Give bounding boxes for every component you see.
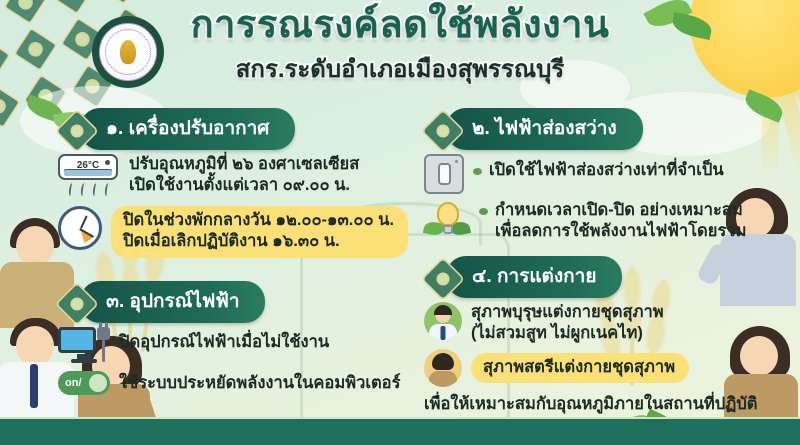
text-line: (ไม่สวมสูท ไม่ผูกเนคไท) (471, 323, 664, 344)
section-electrical-equipment: ๓. อุปกรณ์ไฟฟ้า ปิดอุปกรณ์ไฟฟ้าเมื่อไม่ใ… (58, 285, 410, 399)
air-conditioner-icon: 26°C (58, 154, 120, 200)
section-title: ๓. อุปกรณ์ไฟฟ้า (80, 281, 265, 323)
list-item: เปิดใช้ไฟฟ้าส่องสว่างเท่าที่จำเป็น (424, 154, 776, 194)
text-line: กำหนดเวลาเปิด-ปิด อย่างเหมาะสม (495, 200, 746, 221)
toggle-label: on/ (65, 377, 82, 389)
list-item: กำหนดเวลาเปิด-ปิด อย่างเหมาะสม เพื่อลดกา… (424, 200, 776, 244)
section-air-conditioner: ๑. เครื่องปรับอากาศ 26°C ปรับอุณหภูมิที่… (58, 112, 410, 262)
text-line: ปิดเมื่อเลิกปฏิบัติงาน ๑๖.๓๐ น. (123, 231, 394, 252)
list-item: 26°C ปรับอุณหภูมิที่ ๒๖ องศาเซลเซียส เปิ… (58, 154, 410, 200)
list-item-text-highlighted: สุภาพสตรีแต่งกายชุดสุภาพ (471, 353, 689, 383)
light-bulb-icon (424, 200, 470, 244)
light-switch-icon (424, 154, 464, 194)
section-dress-code: ๔. การแต่งกาย สุภาพบุรุษแต่งกายชุดสุภาพ … (424, 260, 776, 443)
list-item-text: เปิดใช้ไฟฟ้าส่องสว่างเท่าที่จำเป็น (489, 160, 724, 181)
text-line: สุภาพสตรีแต่งกายชุดสุภาพ (483, 357, 675, 378)
text-line: ปิดอุปกรณ์ไฟฟ้าเมื่อไม่ใช้งาน (119, 332, 329, 353)
list-item: ปิดในช่วงพักกลางวัน ๑๒.๐๐-๑๓.๐๐ น. ปิดเม… (58, 206, 410, 258)
list-item-text: ปรับอุณหภูมิที่ ๒๖ องศาเซลเซียส เปิดใช้ง… (129, 154, 359, 197)
text-line: ปรับอุณหภูมิที่ ๒๖ องศาเซลเซียส (129, 154, 359, 175)
monitor-plug-icon (58, 327, 110, 367)
government-emblem-icon (92, 16, 164, 88)
list-item-text-highlighted: ปิดในช่วงพักกลางวัน ๑๒.๐๐-๑๓.๐๐ น. ปิดเม… (111, 206, 408, 258)
text-line: เพื่อลดการใช้พลังงานไฟฟ้าโดยรวม (495, 221, 746, 242)
section-header: ๔. การแต่งกาย (424, 260, 776, 294)
list-item: สุภาพสตรีแต่งกายชุดสุภาพ (424, 349, 776, 387)
text-line: ปิดในช่วงพักกลางวัน ๑๒.๐๐-๑๓.๐๐ น. (123, 210, 394, 231)
male-avatar-icon (424, 302, 462, 340)
list-item-text: ปิดอุปกรณ์ไฟฟ้าเมื่อไม่ใช้งาน (119, 332, 329, 353)
list-item-text: ใช้ระบบประหยัดพลังงานในคอมพิวเตอร์ (119, 373, 400, 394)
bullet-dot (479, 208, 488, 215)
footer-bar (0, 417, 800, 445)
list-item-text: สุภาพบุรุษแต่งกายชุดสุภาพ (ไม่สวมสูท ไม่… (471, 302, 664, 345)
text-line: เปิดใช้งานตั้งแต่เวลา ๐๙.๐๐ น. (129, 175, 359, 196)
section-title: ๑. เครื่องปรับอากาศ (80, 108, 295, 150)
section-header: ๒. ไฟฟ้าส่องสว่าง (424, 112, 776, 146)
female-avatar-icon (424, 349, 462, 387)
list-item: on/ ใช้ระบบประหยัดพลังงานในคอมพิวเตอร์ (58, 371, 410, 395)
text-line: สุภาพบุรุษแต่งกายชุดสุภาพ (471, 302, 664, 323)
bullet-dot (473, 168, 482, 175)
section-title: ๔. การแต่งกาย (446, 256, 622, 298)
section-title: ๒. ไฟฟ้าส่องสว่าง (446, 108, 643, 150)
poster-header: การรณรงค์ลดใช้พลังงาน สกร.ระดับอำเภอเมือ… (0, 6, 800, 88)
section-lighting: ๒. ไฟฟ้าส่องสว่าง เปิดใช้ไฟฟ้าส่องสว่างเ… (424, 112, 776, 248)
text-line: เปิดใช้ไฟฟ้าส่องสว่างเท่าที่จำเป็น (489, 160, 724, 181)
text-line: ใช้ระบบประหยัดพลังงานในคอมพิวเตอร์ (119, 373, 400, 394)
energy-saving-campaign-poster: การรณรงค์ลดใช้พลังงาน สกร.ระดับอำเภอเมือ… (0, 0, 800, 445)
power-toggle-icon[interactable]: on/ (58, 371, 110, 395)
list-item-text: กำหนดเวลาเปิด-ปิด อย่างเหมาะสม เพื่อลดกา… (495, 200, 746, 243)
section-header: ๑. เครื่องปรับอากาศ (58, 112, 410, 146)
section-header: ๓. อุปกรณ์ไฟฟ้า (58, 285, 410, 319)
list-item: ปิดอุปกรณ์ไฟฟ้าเมื่อไม่ใช้งาน (58, 327, 410, 367)
clock-icon (58, 206, 102, 250)
list-item: สุภาพบุรุษแต่งกายชุดสุภาพ (ไม่สวมสูท ไม่… (424, 302, 776, 345)
ac-temperature-value: 26°C (77, 160, 99, 171)
